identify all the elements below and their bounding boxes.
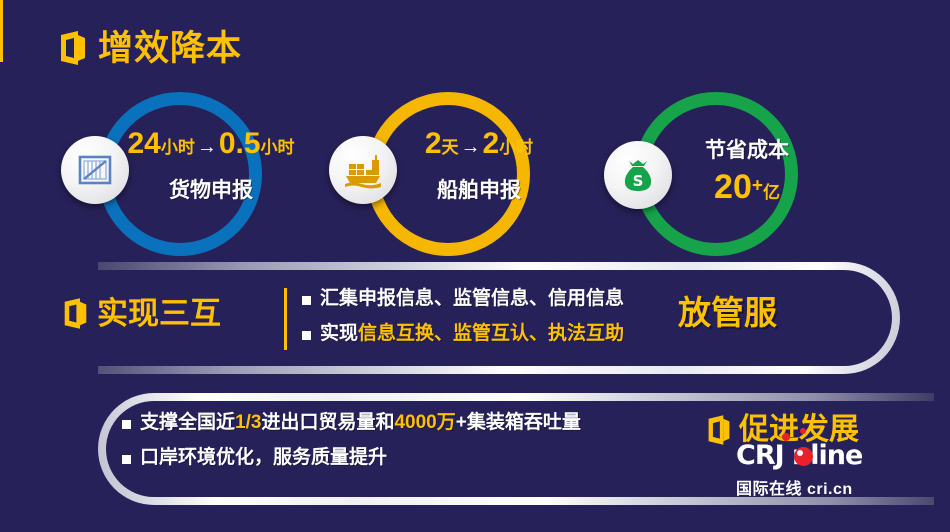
arrow-icon-1: → [195, 136, 219, 158]
middle-band-title-group: 实现三互 [62, 297, 221, 330]
bottom-band-bullets: 支撑全国近1/3进出口贸易量和4000万+集装箱吞吐量 口岸环境优化，服务质量提… [122, 412, 581, 469]
metric-value-3: 20+亿 [632, 170, 862, 206]
cri-spark-icon [782, 433, 790, 441]
metric-amount-3: 20 [714, 168, 752, 206]
metric-caption-2: 船舶申报 [364, 174, 594, 204]
metric-from-value-2: 2 [425, 127, 442, 160]
page-title: 增效降本 [98, 31, 242, 66]
bullet-text: 口岸环境优化，服务质量提升 [140, 447, 387, 469]
middle-band-bullets: 汇集申报信息、监管信息、信用信息 实现信息互换、监管互认、执法互助 [302, 288, 624, 345]
bullet-text: 实现信息互换、监管互认、执法互助 [320, 323, 624, 345]
list-item: 实现信息互换、监管互认、执法互助 [302, 323, 624, 345]
metric-value-2: 2天→2小时 [364, 128, 594, 160]
metric-caption-1: 货物申报 [96, 174, 326, 204]
metric-to-unit-1: 小时 [261, 138, 295, 157]
bullet-square-icon [302, 331, 311, 340]
brand-divider [0, 0, 3, 62]
cri-spark-icon [800, 428, 806, 434]
office-hexagon-icon [62, 297, 89, 330]
bullet-text: 汇集申报信息、监管信息、信用信息 [320, 288, 624, 310]
metric-from-value-1: 24 [127, 127, 160, 160]
metric-to-value-2: 2 [483, 127, 500, 160]
middle-band-divider [284, 288, 287, 350]
metric-plus-3: + [752, 176, 763, 197]
metric-from-unit-1: 小时 [161, 138, 195, 157]
cri-dot-icon [794, 447, 813, 466]
brand-block: 促进发展 CRJ nline 国际在线 cri.cn [706, 414, 936, 499]
metric-label-3: 节省成本 [632, 134, 862, 164]
page-header: 增效降本 [58, 30, 242, 66]
middle-band-title: 实现三互 [97, 298, 221, 329]
metric-to-unit-2: 小时 [499, 138, 533, 157]
infographic-slide: 增效降本 24小时→0.5小时 货物申报 [0, 0, 950, 532]
middle-band-badge: 放管服 [678, 296, 777, 329]
brand-subtitle: 国际在线 cri.cn [736, 475, 936, 499]
metric-to-value-1: 0.5 [219, 127, 261, 160]
list-item: 汇集申报信息、监管信息、信用信息 [302, 288, 624, 310]
metric-text-1: 24小时→0.5小时 货物申报 [96, 128, 326, 204]
metric-from-unit-2: 天 [442, 138, 459, 157]
list-item: 口岸环境优化，服务质量提升 [122, 447, 581, 469]
metric-text-3: 节省成本 20+亿 [632, 134, 862, 206]
metric-unit-3: 亿 [763, 183, 780, 202]
cri-online-logo: CRJ nline [736, 442, 936, 472]
bullet-text: 支撑全国近1/3进出口贸易量和4000万+集装箱吞吐量 [140, 412, 581, 434]
office-hexagon-icon [58, 30, 88, 66]
bullet-square-icon [302, 296, 311, 305]
bullet-square-icon [122, 455, 131, 464]
arrow-icon-2: → [459, 136, 483, 158]
list-item: 支撑全国近1/3进出口贸易量和4000万+集装箱吞吐量 [122, 412, 581, 434]
metric-text-2: 2天→2小时 船舶申报 [364, 128, 594, 204]
metric-value-1: 24小时→0.5小时 [96, 128, 326, 160]
office-hexagon-icon [706, 414, 732, 446]
bullet-square-icon [122, 420, 131, 429]
